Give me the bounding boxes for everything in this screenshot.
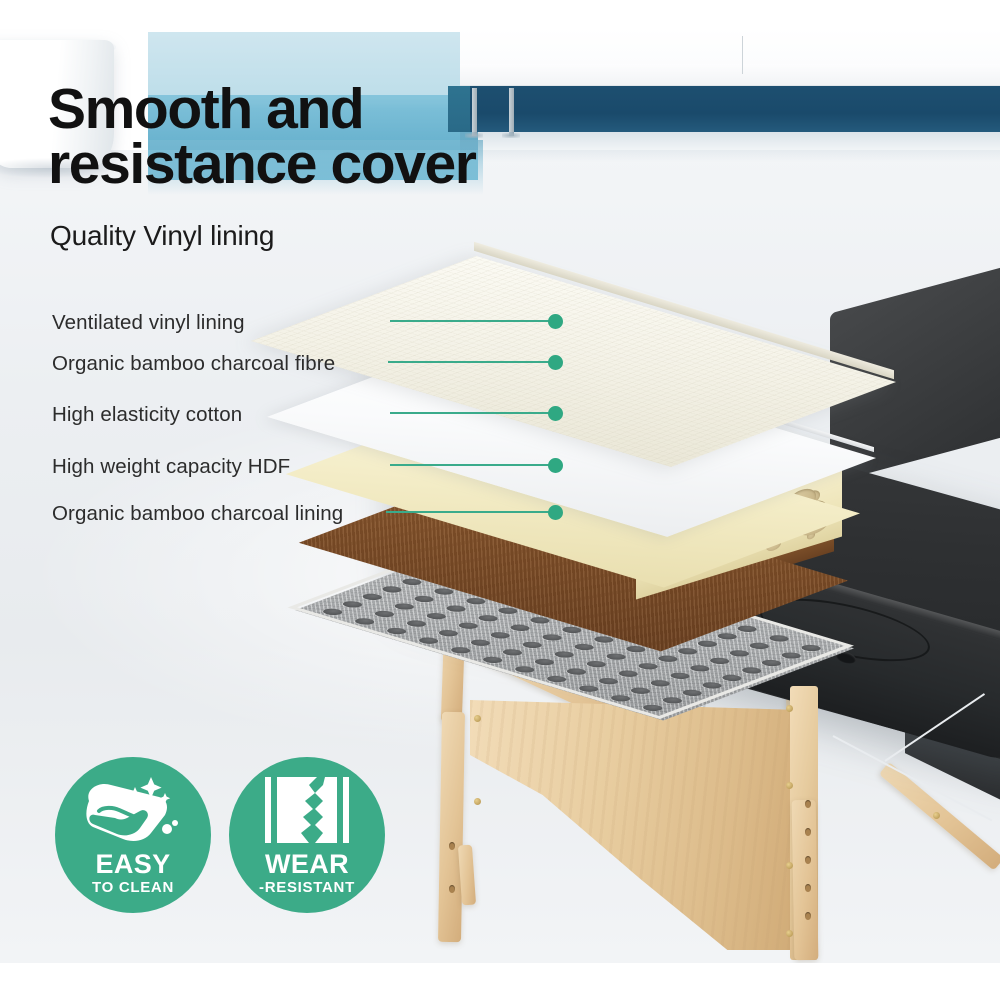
badge-wear-resistant: WEAR -RESISTANT	[229, 757, 385, 913]
mesh-dimple	[615, 669, 642, 678]
frame-screw	[474, 715, 481, 722]
leg-adjust-hole	[805, 856, 811, 864]
mesh-dimple	[487, 631, 514, 640]
mesh-dimple	[627, 686, 654, 695]
badge-wear-label-line1: WEAR	[229, 849, 385, 880]
exploded-layer-stack	[430, 250, 990, 590]
leader-line-4	[390, 464, 558, 466]
leader-dot-icon-3	[548, 406, 563, 421]
mesh-dimple	[391, 602, 418, 611]
frame-screw	[933, 812, 940, 819]
frame-screw	[786, 862, 793, 869]
table-foot-strut	[458, 845, 476, 906]
mesh-dimple	[635, 662, 662, 671]
frame-screw	[474, 798, 481, 805]
product-feature-graphic: Ventilated vinyl lining Organic bamboo c…	[0, 0, 1000, 1000]
mesh-dimple	[595, 677, 622, 686]
mesh-dimple	[738, 666, 765, 675]
mesh-dimple	[551, 650, 578, 659]
mesh-dimple	[543, 675, 570, 684]
mesh-dimple	[607, 694, 634, 703]
leader-dot-icon-1	[548, 314, 563, 329]
callout-label-high-elasticity-cotton: High elasticity cotton	[52, 403, 242, 427]
mesh-dimple	[798, 644, 825, 653]
mesh-dimple	[655, 654, 682, 663]
mesh-dimple	[339, 600, 366, 609]
mesh-dimple	[411, 595, 438, 604]
mesh-dimple	[694, 639, 721, 648]
mesh-dimple	[443, 604, 470, 613]
mesh-dimple	[674, 647, 701, 656]
mesh-dimple	[319, 607, 346, 616]
callout-label-organic-bamboo-charcoal-lining: Organic bamboo charcoal lining	[52, 502, 343, 526]
leg-adjust-hole	[805, 828, 811, 836]
mesh-dimple	[507, 623, 534, 632]
table-leg-right-lower	[792, 800, 819, 960]
mesh-dimple	[455, 621, 482, 630]
mesh-dimple	[778, 651, 805, 660]
mesh-dimple	[583, 660, 610, 669]
mesh-dimple	[359, 592, 386, 601]
mesh-dimple	[371, 610, 398, 619]
leader-line-5	[386, 511, 558, 513]
page-subtitle: Quality Vinyl lining	[50, 220, 274, 252]
mesh-dimple	[475, 614, 502, 623]
wiping-hand-cloth-icon	[55, 771, 211, 849]
mesh-dimple	[667, 671, 694, 680]
mesh-dimple	[719, 673, 746, 682]
leader-line-1	[390, 320, 558, 322]
mesh-dimple	[499, 648, 526, 657]
mesh-dimple	[435, 629, 462, 638]
frame-screw	[786, 705, 793, 712]
mesh-dimple	[659, 696, 686, 705]
mesh-dimple	[679, 688, 706, 697]
mesh-dimple	[647, 679, 674, 688]
table-leg-left-lower	[438, 712, 465, 942]
mesh-dimple	[403, 619, 430, 628]
mesh-dimple	[383, 627, 410, 636]
callout-label-high-weight-capacity-hdf: High weight capacity HDF	[52, 455, 290, 479]
leader-dot-icon-5	[548, 505, 563, 520]
mesh-dimple	[575, 684, 602, 693]
leader-line-3	[390, 412, 558, 414]
mesh-dimple	[746, 641, 773, 650]
frame-screw	[786, 930, 793, 937]
badge-easy-label-line1: EASY	[55, 849, 211, 880]
product-photo-scene: Ventilated vinyl lining Organic bamboo c…	[0, 0, 1000, 963]
mesh-dimple	[699, 681, 726, 690]
leg-adjust-hole	[449, 885, 455, 893]
leader-line-2	[388, 361, 558, 363]
mesh-dimple	[726, 649, 753, 658]
badge-wear-label-line2: -RESISTANT	[229, 879, 385, 896]
mesh-dimple	[714, 632, 741, 641]
callout-label-ventilated-vinyl-lining: Ventilated vinyl lining	[52, 311, 245, 335]
mesh-dimple	[351, 617, 378, 626]
leader-dot-icon-2	[548, 355, 563, 370]
mesh-dimple	[766, 634, 793, 643]
leg-adjust-hole	[805, 912, 811, 920]
mesh-dimple	[511, 665, 538, 674]
bottom-white-margin	[0, 963, 1000, 1000]
mesh-dimple	[758, 659, 785, 668]
callout-label-organic-bamboo-charcoal-fibre: Organic bamboo charcoal fibre	[52, 352, 335, 376]
mesh-dimple	[706, 656, 733, 665]
mesh-dimple	[519, 640, 546, 649]
leg-adjust-hole	[449, 842, 455, 850]
page-title: Smooth and resistance cover	[48, 82, 476, 193]
badge-easy-label-line2: TO CLEAN	[55, 879, 211, 896]
leader-dot-icon-4	[548, 458, 563, 473]
frame-screw	[786, 782, 793, 789]
leg-adjust-hole	[805, 800, 811, 808]
torn-fabric-icon	[229, 771, 385, 849]
badge-easy-to-clean: EASY TO CLEAN	[55, 757, 211, 913]
leg-adjust-hole	[805, 884, 811, 892]
mesh-dimple	[467, 638, 494, 647]
mesh-dimple	[479, 655, 506, 664]
mesh-dimple	[539, 633, 566, 642]
mesh-dimple	[447, 646, 474, 655]
mesh-dimple	[734, 624, 761, 633]
mesh-dimple	[415, 636, 442, 645]
table-support-panel-grain	[470, 700, 800, 950]
mesh-dimple	[639, 703, 666, 712]
mesh-dimple	[563, 667, 590, 676]
mesh-dimple	[571, 643, 598, 652]
mesh-dimple	[423, 612, 450, 621]
mesh-dimple	[603, 652, 630, 661]
mesh-dimple	[379, 585, 406, 594]
mesh-dimple	[531, 658, 558, 667]
mesh-dimple	[687, 664, 714, 673]
